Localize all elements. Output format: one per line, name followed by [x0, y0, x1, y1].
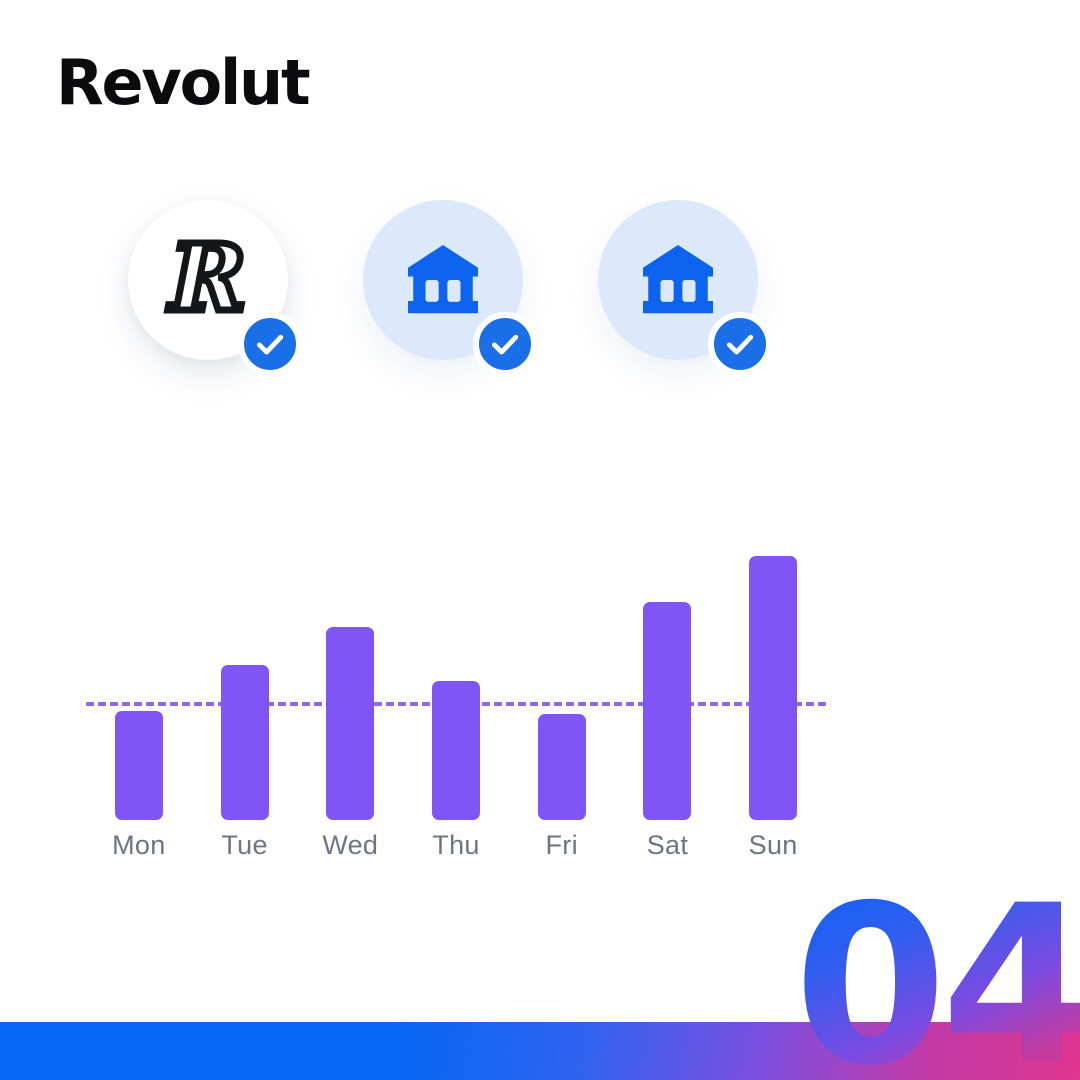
verified-badge-3 — [708, 312, 772, 376]
check-icon — [488, 327, 522, 361]
revolut-r-logo-icon: R — [170, 232, 246, 324]
connected-accounts-group: R — [128, 200, 838, 400]
chart-bar — [115, 711, 163, 820]
chart-x-label: Wed — [295, 830, 405, 861]
chart-plot-area — [86, 548, 826, 820]
account-card-bank-1[interactable] — [363, 200, 523, 360]
chart-x-label: Fri — [507, 830, 617, 861]
verified-badge-1 — [238, 312, 302, 376]
weekly-bar-chart: MonTueWedThuFriSatSun — [86, 548, 826, 883]
chart-x-label: Thu — [401, 830, 511, 861]
brand-wordmark: Revolut — [56, 52, 308, 114]
bank-icon — [636, 238, 720, 322]
chart-x-label: Sat — [612, 830, 722, 861]
check-icon — [253, 327, 287, 361]
chart-x-label: Mon — [84, 830, 194, 861]
poster-canvas: Revolut R — [0, 0, 1080, 1080]
bank-icon — [401, 238, 485, 322]
slide-number: 04 — [794, 876, 1080, 1080]
account-card-bank-2[interactable] — [598, 200, 758, 360]
chart-x-label: Sun — [718, 830, 828, 861]
chart-x-label: Tue — [190, 830, 300, 861]
chart-bar — [643, 602, 691, 820]
check-icon — [723, 327, 757, 361]
verified-badge-2 — [473, 312, 537, 376]
account-card-revolut[interactable]: R — [128, 200, 288, 360]
chart-bar — [432, 681, 480, 820]
chart-bar — [221, 665, 269, 820]
chart-bar — [749, 556, 797, 820]
chart-x-axis-labels: MonTueWedThuFriSatSun — [86, 830, 826, 870]
chart-bar — [538, 714, 586, 820]
chart-bar — [326, 627, 374, 820]
